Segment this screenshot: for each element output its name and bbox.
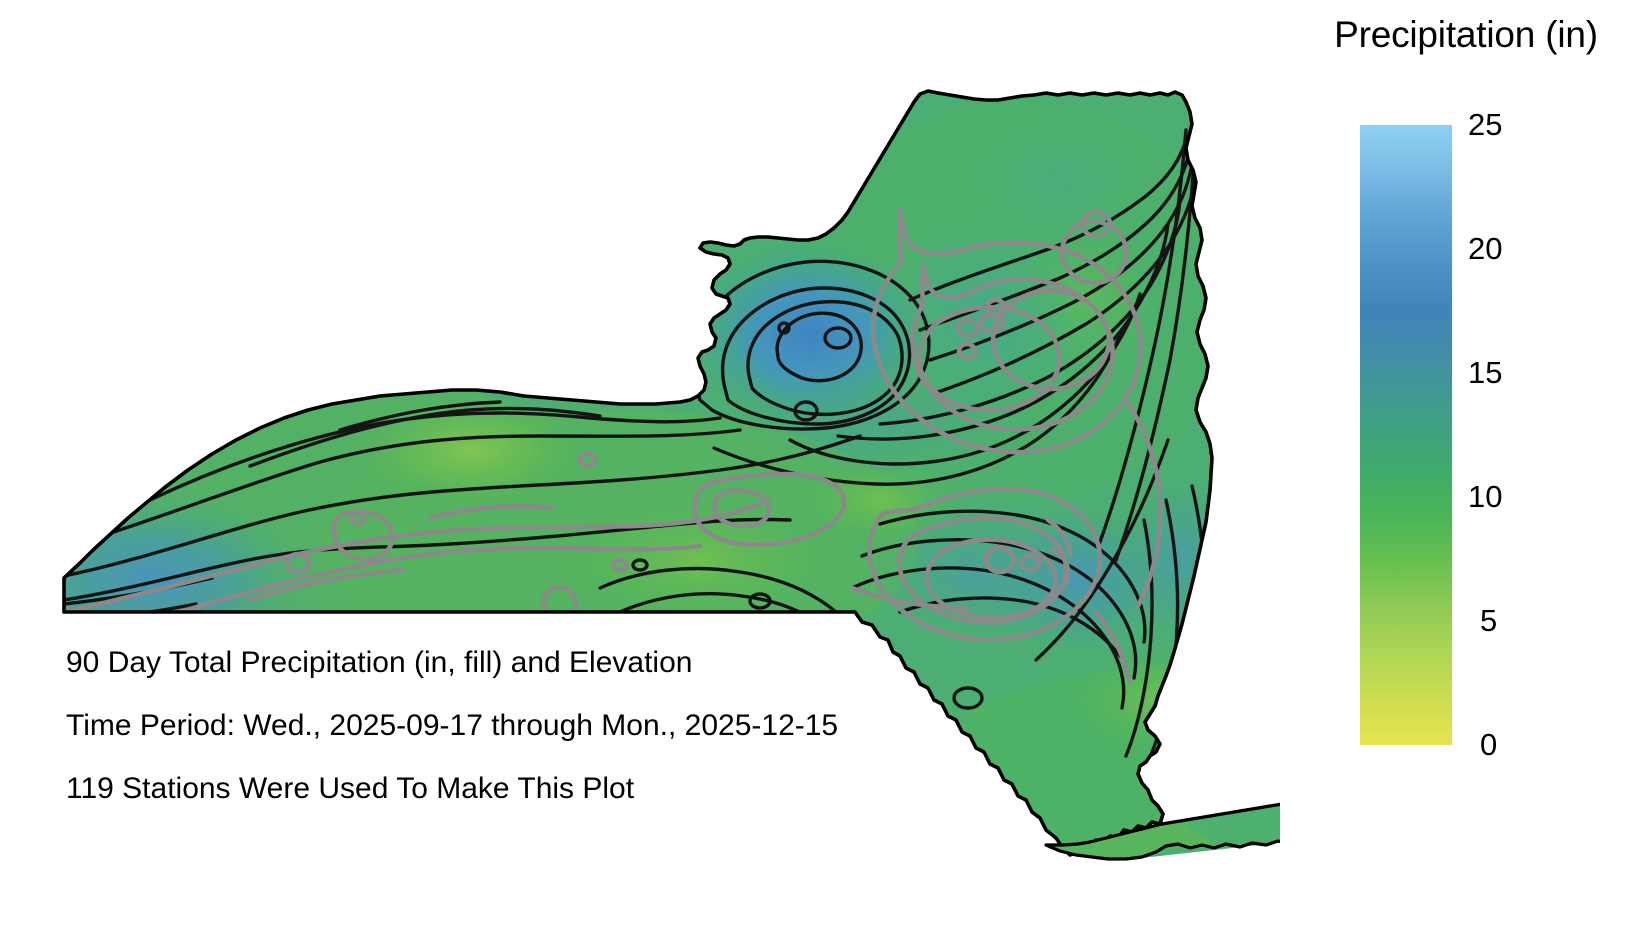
legend-panel: Precipitation (in) 25 20 15 10 5 0: [1282, 0, 1650, 950]
colorbar-tick-5: 5: [1480, 603, 1497, 639]
caption-line-station-count: 119 Stations Were Used To Make This Plot: [66, 774, 1026, 804]
new-york-state-map: [0, 0, 1280, 950]
caption-line-title: 90 Day Total Precipitation (in, fill) an…: [66, 648, 1026, 678]
caption-line-time-period: Time Period: Wed., 2025-09-17 through Mo…: [66, 711, 1026, 741]
colorbar: [1360, 125, 1452, 745]
colorbar-tick-25: 25: [1468, 107, 1502, 143]
map-canvas: [0, 0, 1280, 950]
precipitation-map-figure: 90 Day Total Precipitation (in, fill) an…: [0, 0, 1650, 950]
precipitation-fill-layer: [0, 0, 1280, 950]
colorbar-tick-20: 20: [1468, 231, 1502, 267]
colorbar-tick-10: 10: [1468, 479, 1502, 515]
colorbar-tick-15: 15: [1468, 355, 1502, 391]
colorbar-gradient: [1360, 125, 1452, 745]
colorbar-tick-0: 0: [1480, 727, 1497, 763]
legend-title: Precipitation (in): [1282, 14, 1650, 56]
figure-caption: 90 Day Total Precipitation (in, fill) an…: [66, 648, 1026, 804]
